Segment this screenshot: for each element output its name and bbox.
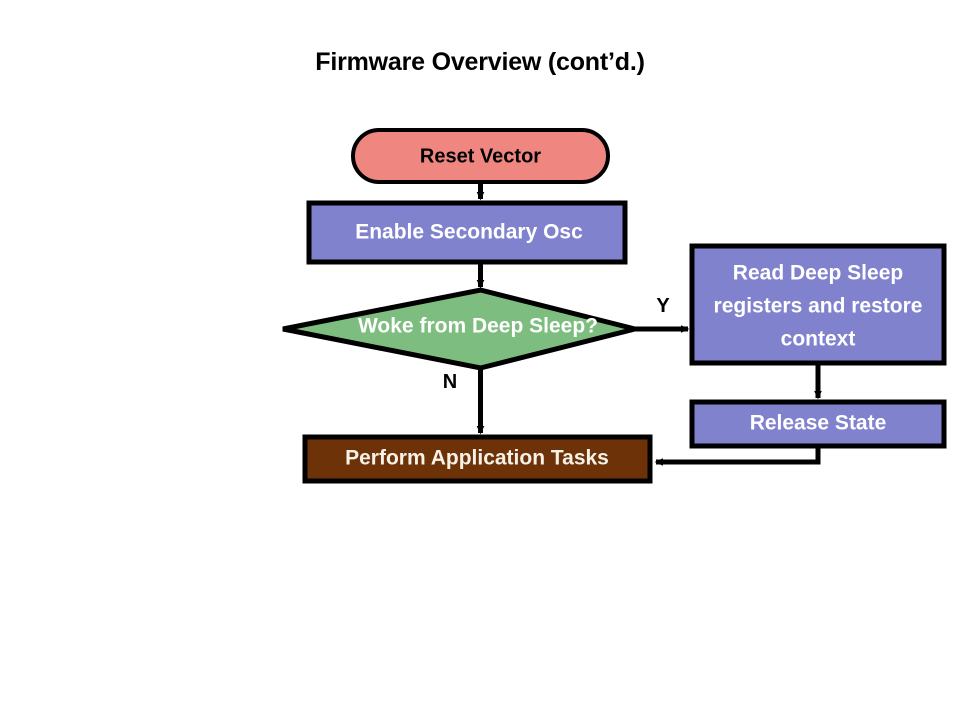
- node-perform-application-tasks-label: Perform Application Tasks: [345, 447, 609, 470]
- branch-label-yes: Y: [656, 295, 670, 317]
- node-read-deep-sleep-registers-line-2: registers and restore: [714, 295, 923, 318]
- node-read-deep-sleep-registers-line-1: Read Deep Sleep: [733, 262, 903, 285]
- node-release-state[interactable]: Release State: [692, 402, 944, 446]
- branch-label-no: N: [443, 371, 457, 393]
- node-enable-secondary-osc[interactable]: Enable Secondary Osc: [309, 203, 625, 262]
- node-woke-from-deep-sleep[interactable]: Woke from Deep Sleep?: [283, 290, 635, 368]
- node-enable-secondary-osc-label: Enable Secondary Osc: [355, 221, 583, 244]
- slide-canvas: Firmware Overview (cont’d.): [0, 0, 960, 720]
- node-release-state-label: Release State: [750, 412, 887, 435]
- node-reset-vector-label: Reset Vector: [420, 145, 541, 167]
- node-woke-from-deep-sleep-label: Woke from Deep Sleep?: [358, 315, 598, 338]
- flowchart: Reset Vector Enable Secondary Osc Woke f…: [0, 0, 960, 720]
- node-read-deep-sleep-registers[interactable]: Read Deep Sleep registers and restore co…: [692, 246, 944, 363]
- node-read-deep-sleep-registers-line-3: context: [781, 328, 856, 351]
- node-perform-application-tasks[interactable]: Perform Application Tasks: [305, 437, 650, 481]
- node-reset-vector[interactable]: Reset Vector: [353, 130, 608, 182]
